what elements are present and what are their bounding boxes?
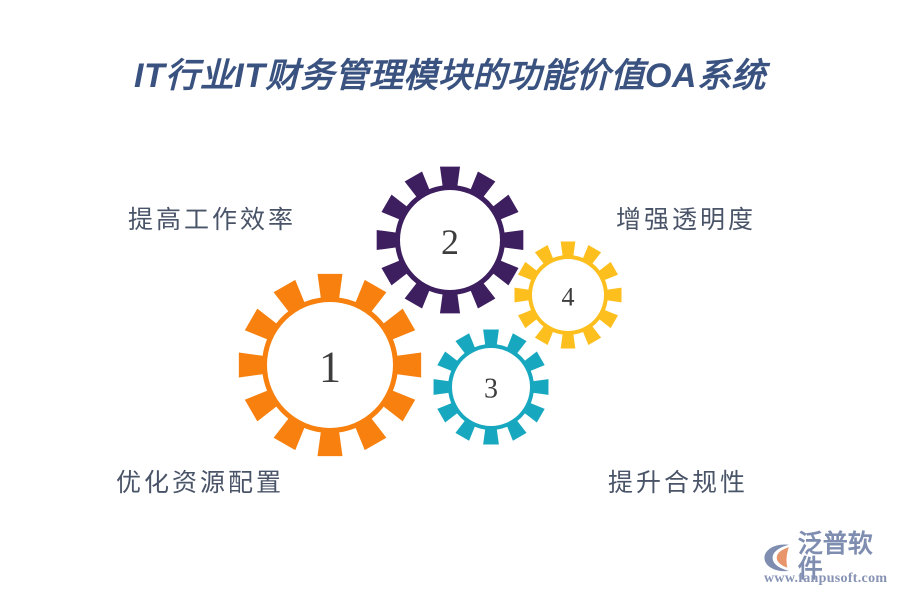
- yellow-gear: 4: [515, 242, 622, 349]
- gear-diagram: 1234: [0, 0, 900, 600]
- label-optimize-resources: 优化资源配置: [116, 463, 284, 499]
- yellow-gear-number: 4: [562, 283, 575, 312]
- orange-gear-number: 1: [319, 343, 341, 392]
- teal-gear: 3: [434, 330, 549, 445]
- purple-gear-number: 2: [441, 222, 459, 262]
- label-improve-compliance: 提升合规性: [608, 463, 748, 499]
- brand-logo: 泛普软件 www.fanpusoft.com: [762, 532, 894, 590]
- slide-canvas: IT行业IT财务管理模块的功能价值OA系统 1234 提高工作效率 增强透明度 …: [0, 0, 900, 600]
- label-improve-efficiency: 提高工作效率: [128, 200, 296, 236]
- gear-graphic: 1234: [0, 0, 900, 600]
- fanpu-logo-icon: [762, 540, 795, 574]
- label-enhance-transparency: 增强透明度: [616, 200, 756, 236]
- teal-gear-number: 3: [484, 374, 498, 405]
- logo-website-url: www.fanpusoft.com: [764, 571, 887, 587]
- orange-gear: 1: [239, 274, 421, 456]
- purple-gear: 2: [377, 167, 524, 314]
